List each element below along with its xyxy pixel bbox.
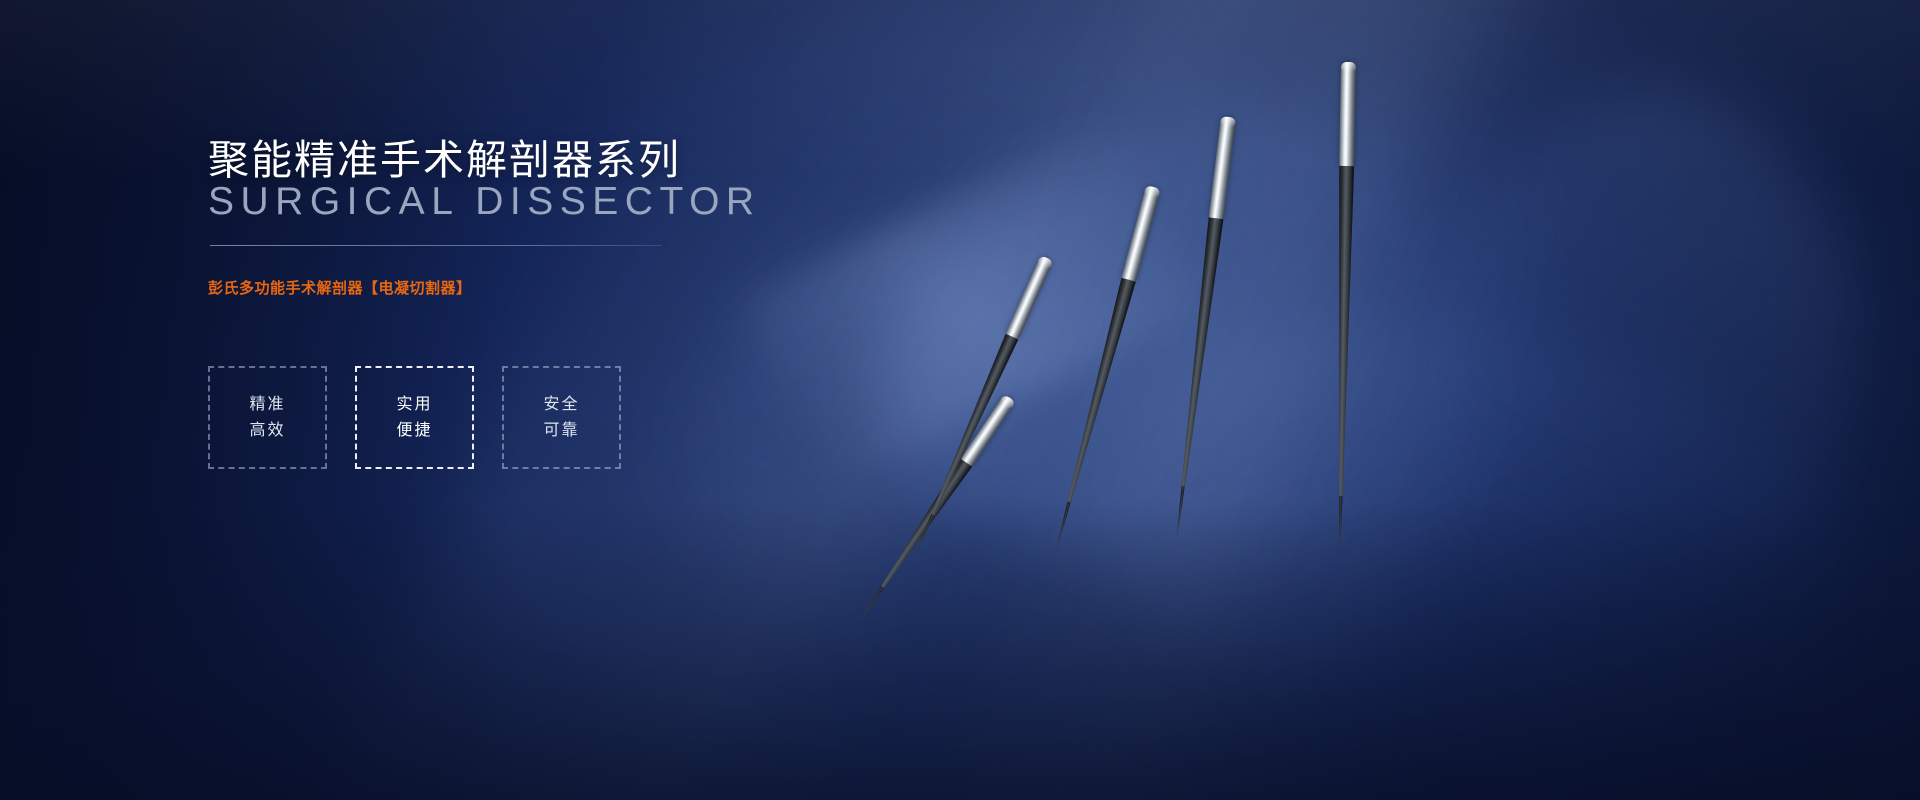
feature-badge-0[interactable]: 精准 高效 — [208, 366, 327, 469]
hero-banner: 聚能精准手术解剖器系列 SURGICAL DISSECTOR 彭氏多功能手术解剖… — [0, 0, 1920, 800]
feature-badge-1-line1: 实用 — [396, 397, 432, 413]
feature-badge-0-line1: 精准 — [249, 397, 285, 413]
product-tagline: 彭氏多功能手术解剖器【电凝切割器】 — [208, 277, 472, 298]
feature-badge-0-line2: 高效 — [249, 423, 285, 439]
feature-badge-1[interactable]: 实用 便捷 — [355, 366, 474, 469]
page-title: 聚能精准手术解剖器系列 — [208, 126, 681, 186]
feature-badge-2-line2: 可靠 — [543, 423, 579, 439]
feature-badge-2-line1: 安全 — [543, 397, 579, 413]
banner-content: 聚能精准手术解剖器系列 SURGICAL DISSECTOR 彭氏多功能手术解剖… — [208, 0, 848, 800]
feature-badge-1-line2: 便捷 — [396, 423, 432, 439]
page-subtitle-en: SURGICAL DISSECTOR — [208, 180, 761, 224]
feature-badge-2[interactable]: 安全 可靠 — [502, 366, 621, 469]
divider — [210, 245, 662, 246]
feature-badge-list: 精准 高效 实用 便捷 安全 可靠 — [208, 366, 621, 469]
